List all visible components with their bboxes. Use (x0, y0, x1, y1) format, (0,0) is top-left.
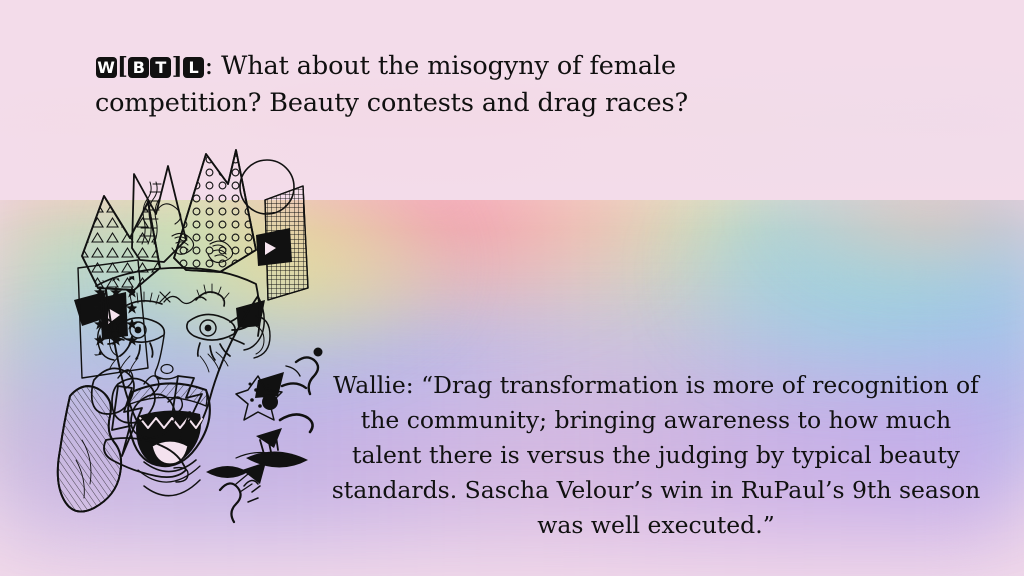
slide-canvas: W[BT]L: What about the misogyny of femal… (0, 0, 1024, 576)
logo-bracket-close: ] (172, 53, 183, 80)
polka-dot-crown-spike (174, 150, 256, 272)
answer-body: “Drag transformation is more of recognit… (332, 371, 981, 539)
logo-chip-w: W (96, 57, 117, 78)
open-screaming-mouth (128, 383, 210, 482)
background-peach-bloom (780, 120, 1024, 280)
logo-chip-b: B (128, 57, 149, 78)
answer-text: Wallie: “Drag transformation is more of … (330, 368, 982, 543)
abstract-squiggles (206, 348, 323, 523)
drag-queen-illustration (60, 140, 360, 550)
question-text: W[BT]L: What about the misogyny of femal… (95, 48, 735, 121)
grid-plaid-quadrilateral (256, 186, 308, 300)
logo-chip-l: L (183, 57, 204, 78)
logo-chip-t: T (150, 57, 171, 78)
logo-bracket-open: [ (117, 53, 128, 80)
question-separator: : (205, 51, 222, 81)
brand-logo: W[BT]L (95, 51, 205, 81)
